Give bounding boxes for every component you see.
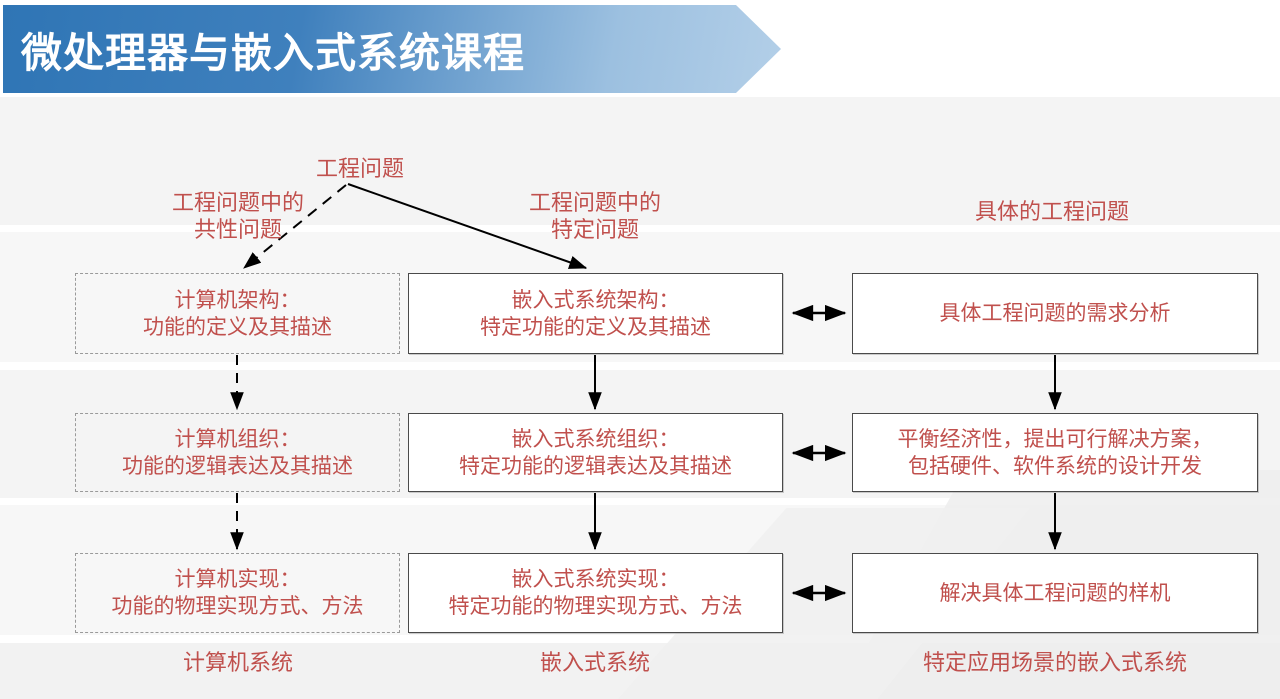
column-footer-middle: 嵌入式系统 [435, 650, 755, 677]
column-footer-left: 计算机系统 [78, 650, 398, 677]
node-left-row2[interactable]: 计算机组织： 功能的逻辑表达及其描述 [75, 413, 400, 492]
title-banner: 微处理器与嵌入式系统课程 [3, 5, 781, 93]
node-middle-row3[interactable]: 嵌入式系统实现： 特定功能的物理实现方式、方法 [408, 553, 783, 633]
column-header-left: 工程问题中的 共性问题 [78, 190, 398, 244]
node-middle-row1[interactable]: 嵌入式系统架构： 特定功能的定义及其描述 [408, 273, 783, 354]
node-left-row3[interactable]: 计算机实现： 功能的物理实现方式、方法 [75, 553, 400, 633]
column-footer-right: 特定应用场景的嵌入式系统 [852, 650, 1258, 677]
node-right-row2[interactable]: 平衡经济性，提出可行解决方案， 包括硬件、软件系统的设计开发 [852, 413, 1258, 492]
node-right-row3[interactable]: 解决具体工程问题的样机 [852, 553, 1258, 633]
column-header-right: 具体的工程问题 [892, 199, 1212, 226]
page-title: 微处理器与嵌入式系统课程 [21, 19, 525, 79]
column-header-middle: 工程问题中的 特定问题 [435, 190, 755, 244]
node-middle-row2[interactable]: 嵌入式系统组织： 特定功能的逻辑表达及其描述 [408, 413, 783, 492]
apex-label: 工程问题 [245, 156, 475, 183]
node-left-row1[interactable]: 计算机架构： 功能的定义及其描述 [75, 273, 400, 354]
slide-canvas: 微处理器与嵌入式系统课程 [0, 0, 1280, 699]
node-right-row1[interactable]: 具体工程问题的需求分析 [852, 273, 1258, 354]
